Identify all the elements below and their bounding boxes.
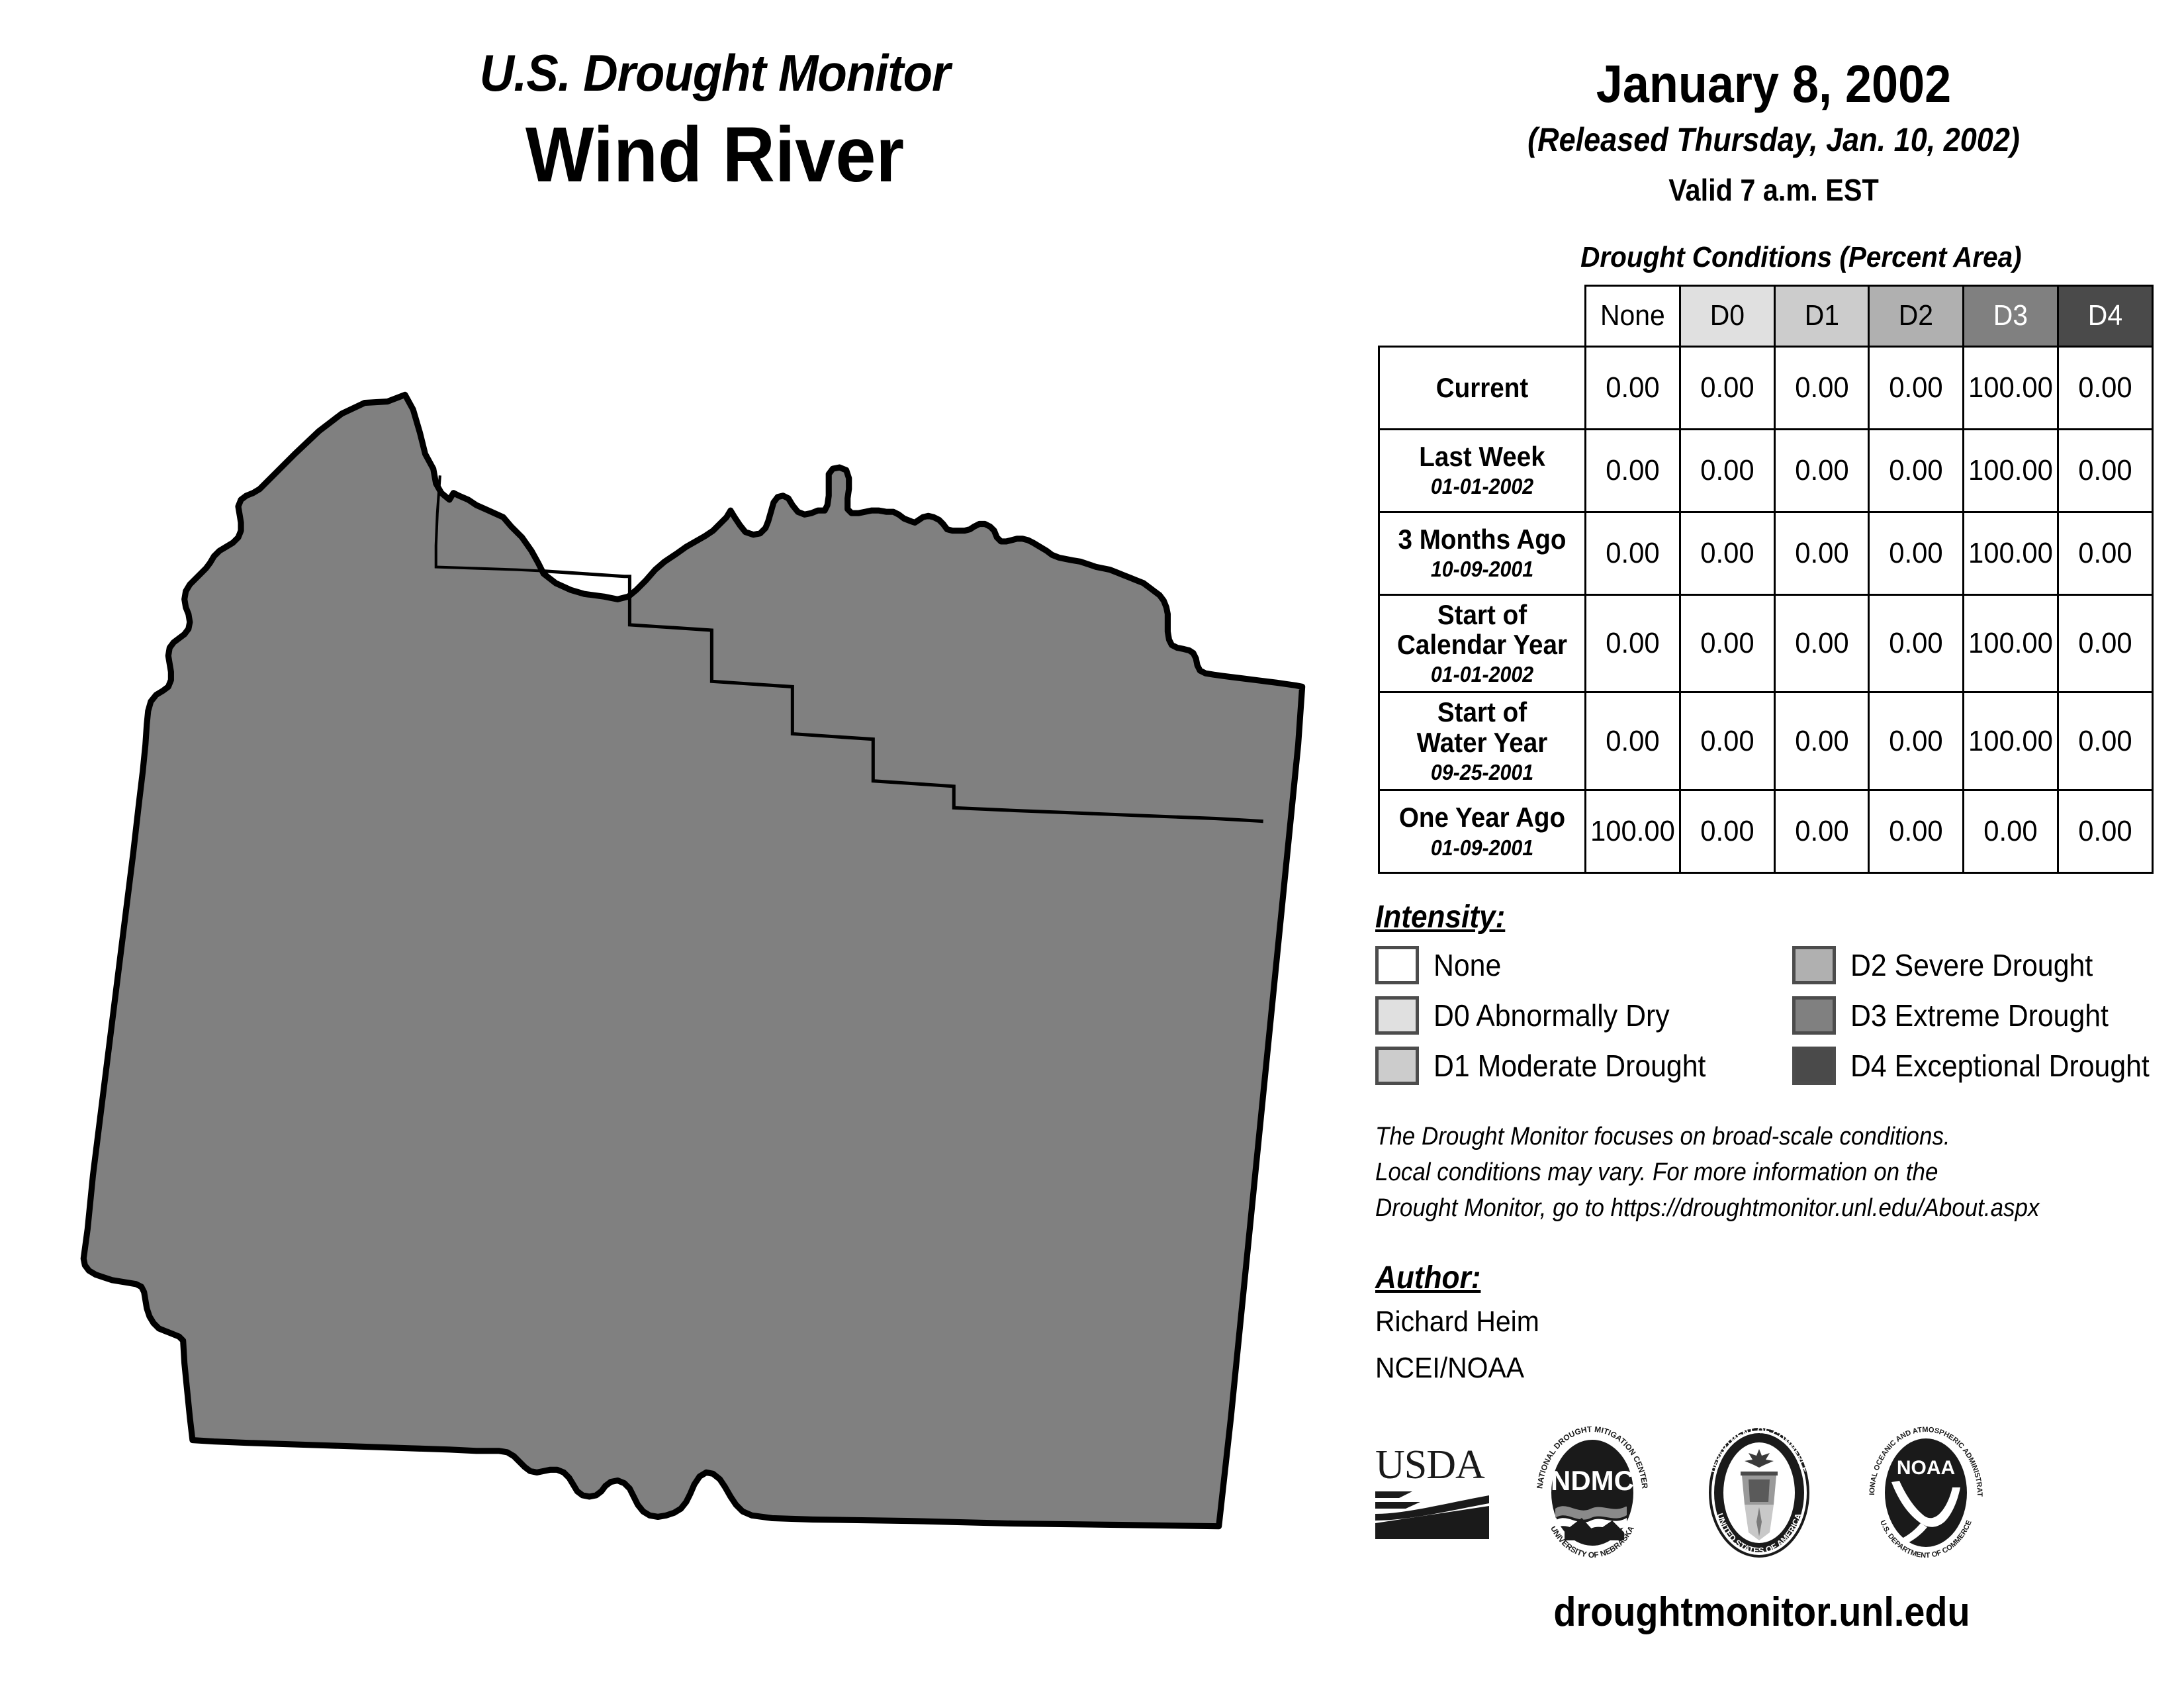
cell-value: 0.00 [1967, 815, 2055, 848]
usda-logo: USDA [1373, 1440, 1492, 1549]
table-cell-none: 0.00 [1586, 346, 1680, 429]
table-cell-d3: 100.00 [1964, 594, 2058, 692]
drought-monitor-page: U.S. Drought Monitor Wind River January … [0, 0, 2184, 1688]
cell-value: 0.00 [2062, 537, 2150, 570]
legend-item: D2 Severe Drought [1792, 946, 2184, 984]
table-cell-d1: 0.00 [1774, 790, 1869, 873]
cell-value: 100.00 [1967, 725, 2055, 758]
row-label-name: 3 Months Ago [1393, 524, 1572, 554]
drought-conditions-table: NoneD0D1D2D3D4 Current0.000.000.000.0010… [1378, 285, 2154, 874]
legend-label: None [1433, 947, 1501, 983]
right-panel: January 8, 2002 (Released Thursday, Jan.… [1363, 0, 2184, 1688]
table-cell-d0: 0.00 [1680, 594, 1774, 692]
row-label-name: Start of [1393, 697, 1572, 727]
cell-value: 0.00 [1588, 454, 1676, 487]
cell-value: 0.00 [1683, 371, 1771, 404]
row-label-name: Start of [1393, 600, 1572, 630]
legend-item: D1 Moderate Drought [1375, 1047, 1792, 1085]
table-cell-d4: 0.00 [2058, 692, 2153, 790]
table-cell-d3: 100.00 [1964, 429, 2058, 512]
table-cell-d4: 0.00 [2058, 429, 2153, 512]
table-cell-none: 0.00 [1586, 429, 1680, 512]
table-body: Current0.000.000.000.00100.000.00Last We… [1379, 346, 2153, 872]
table-cell-d1: 0.00 [1774, 692, 1869, 790]
header-blank-cell [1379, 285, 1586, 346]
cell-value: 0.00 [1683, 815, 1771, 848]
legend-label: D4 Exceptional Drought [1850, 1048, 2150, 1084]
cell-value: 0.00 [1872, 537, 1960, 570]
table-cell-d1: 0.00 [1774, 512, 1869, 594]
row-label-date: 01-09-2001 [1393, 835, 1572, 861]
svg-text:NOAA: NOAA [1897, 1457, 1955, 1479]
cell-value: 0.00 [1778, 537, 1866, 570]
row-label-date: 09-25-2001 [1393, 760, 1572, 785]
table-caption: Drought Conditions (Percent Area) [1396, 241, 2152, 274]
cell-value: 0.00 [1588, 725, 1676, 758]
cell-value: 0.00 [2062, 371, 2150, 404]
table-cell-d2: 0.00 [1869, 692, 1964, 790]
table-cell-d4: 0.00 [2058, 594, 2153, 692]
cell-value: 0.00 [1683, 454, 1771, 487]
valid-time: Valid 7 a.m. EST [1404, 172, 2143, 208]
table-row: 3 Months Ago10-09-20010.000.000.000.0010… [1379, 512, 2153, 594]
column-header-label: D0 [1684, 299, 1770, 332]
legend-label: D2 Severe Drought [1850, 947, 2093, 983]
column-header-d2: D2 [1869, 285, 1964, 346]
table-row: Start ofCalendar Year01-01-20020.000.000… [1379, 594, 2153, 692]
legend-swatch [1375, 946, 1419, 984]
row-label-name: Current [1393, 373, 1572, 402]
legend-swatch [1375, 996, 1419, 1035]
legend-label: D1 Moderate Drought [1433, 1048, 1706, 1084]
cell-value: 100.00 [1967, 537, 2055, 570]
disclaimer-block: The Drought Monitor focuses on broad-sca… [1375, 1119, 2184, 1227]
table-cell-d0: 0.00 [1680, 346, 1774, 429]
row-label: Current [1379, 346, 1586, 429]
cell-value: 0.00 [1778, 454, 1866, 487]
table-cell-none: 0.00 [1586, 594, 1680, 692]
date-block: January 8, 2002 (Released Thursday, Jan.… [1363, 0, 2184, 208]
table-cell-d3: 100.00 [1964, 512, 2058, 594]
column-header-label: D4 [2062, 299, 2148, 332]
doc-logo: DEPARTMENT OF COMMERCE UNITED STATES OF … [1693, 1427, 1825, 1562]
table-header-row: NoneD0D1D2D3D4 [1379, 285, 2153, 346]
table-cell-d4: 0.00 [2058, 790, 2153, 873]
cell-value: 0.00 [1872, 815, 1960, 848]
valid-date: January 8, 2002 [1404, 57, 2143, 111]
intensity-legend: Intensity: NoneD2 Severe DroughtD0 Abnor… [1375, 899, 2184, 1085]
cell-value: 100.00 [1967, 627, 2055, 660]
disclaimer-line-3: Drought Monitor, go to https://droughtmo… [1375, 1191, 2119, 1227]
table-header: NoneD0D1D2D3D4 [1379, 285, 2153, 346]
column-header-label: D3 [1968, 299, 2054, 332]
column-header-label: None [1590, 299, 1676, 332]
table-cell-d3: 100.00 [1964, 346, 2058, 429]
column-header-label: D2 [1873, 299, 1959, 332]
ndmc-logo: NATIONAL DROUGHT MITIGATION CENTER UNIVE… [1526, 1427, 1659, 1562]
table-cell-none: 100.00 [1586, 790, 1680, 873]
row-label: Last Week01-01-2002 [1379, 429, 1586, 512]
table-cell-d4: 0.00 [2058, 512, 2153, 594]
legend-label: D0 Abnormally Dry [1433, 998, 1670, 1033]
cell-value: 0.00 [1872, 454, 1960, 487]
table-cell-d2: 0.00 [1869, 790, 1964, 873]
row-label: Start ofCalendar Year01-01-2002 [1379, 594, 1586, 692]
table-cell-d2: 0.00 [1869, 429, 1964, 512]
cell-value: 0.00 [1683, 725, 1771, 758]
row-label-date: 01-01-2002 [1393, 474, 1572, 499]
product-title: U.S. Drought Monitor [420, 46, 1011, 101]
noaa-logo: NATIONAL OCEANIC AND ATMOSPHERIC ADMINIS… [1860, 1427, 1992, 1562]
disclaimer-line-2: Local conditions may vary. For more info… [1375, 1155, 2119, 1191]
cell-value: 0.00 [1683, 537, 1771, 570]
cell-value: 100.00 [1588, 815, 1676, 848]
table-row: Start ofWater Year09-25-20010.000.000.00… [1379, 692, 2153, 790]
legend-item: None [1375, 946, 1792, 984]
title-block: U.S. Drought Monitor Wind River [397, 46, 1032, 199]
legend-swatch [1792, 946, 1836, 984]
column-header-d1: D1 [1774, 285, 1869, 346]
table-cell-d2: 0.00 [1869, 594, 1964, 692]
release-date: (Released Thursday, Jan. 10, 2002) [1404, 120, 2143, 159]
row-label-name: One Year Ago [1393, 802, 1572, 832]
table-cell-d3: 0.00 [1964, 790, 2058, 873]
legend-item: D3 Extreme Drought [1792, 996, 2184, 1035]
logo-row: USDA NATIONAL DROUGHT MITIGATION C [1373, 1427, 2184, 1562]
svg-text:NDMC: NDMC [1551, 1465, 1634, 1496]
cell-value: 0.00 [1588, 371, 1676, 404]
table-cell-d4: 0.00 [2058, 346, 2153, 429]
row-label-date: 10-09-2001 [1393, 557, 1572, 582]
table-cell-d0: 0.00 [1680, 429, 1774, 512]
author-title: Author: [1375, 1260, 1480, 1296]
cell-value: 0.00 [1588, 627, 1676, 660]
disclaimer-line-1: The Drought Monitor focuses on broad-sca… [1375, 1119, 2119, 1155]
cell-value: 0.00 [1872, 371, 1960, 404]
row-label: Start ofWater Year09-25-2001 [1379, 692, 1586, 790]
row-label-date: 01-01-2002 [1393, 662, 1572, 687]
cell-value: 0.00 [1778, 371, 1866, 404]
cell-value: 0.00 [2062, 454, 2150, 487]
row-label-name: Last Week [1393, 442, 1572, 471]
table-cell-d2: 0.00 [1869, 512, 1964, 594]
table-cell-none: 0.00 [1586, 512, 1680, 594]
table-cell-d1: 0.00 [1774, 429, 1869, 512]
legend-grid: NoneD2 Severe DroughtD0 Abnormally DryD3… [1375, 946, 2184, 1085]
legend-swatch [1792, 1047, 1836, 1085]
cell-value: 0.00 [1683, 627, 1771, 660]
column-header-label: D1 [1779, 299, 1865, 332]
cell-value: 0.00 [1872, 627, 1960, 660]
map-svg [73, 367, 1317, 1552]
table-cell-d0: 0.00 [1680, 790, 1774, 873]
cell-value: 0.00 [2062, 815, 2150, 848]
author-affiliation: NCEI/NOAA [1375, 1348, 2127, 1389]
row-label: 3 Months Ago10-09-2001 [1379, 512, 1586, 594]
row-label-name: Calendar Year [1393, 630, 1572, 659]
table-row: Last Week01-01-20020.000.000.000.00100.0… [1379, 429, 2153, 512]
cell-value: 0.00 [1872, 725, 1960, 758]
author-block: Author: Richard Heim NCEI/NOAA [1375, 1260, 2184, 1389]
column-header-d0: D0 [1680, 285, 1774, 346]
footer-url[interactable]: droughtmonitor.unl.edu [1404, 1589, 2143, 1636]
table-cell-d0: 0.00 [1680, 692, 1774, 790]
table-cell-none: 0.00 [1586, 692, 1680, 790]
cell-value: 0.00 [1778, 725, 1866, 758]
region-title: Wind River [420, 111, 1011, 199]
legend-item: D4 Exceptional Drought [1792, 1047, 2184, 1085]
cell-value: 0.00 [1588, 537, 1676, 570]
cell-value: 0.00 [1778, 815, 1866, 848]
row-label: One Year Ago01-09-2001 [1379, 790, 1586, 873]
row-label-name: Water Year [1393, 727, 1572, 757]
author-name: Richard Heim [1375, 1301, 2127, 1342]
table-cell-d1: 0.00 [1774, 346, 1869, 429]
legend-item: D0 Abnormally Dry [1375, 996, 1792, 1035]
column-header-d3: D3 [1964, 285, 2058, 346]
cell-value: 100.00 [1967, 454, 2055, 487]
table-row: One Year Ago01-09-2001100.000.000.000.00… [1379, 790, 2153, 873]
legend-label: D3 Extreme Drought [1850, 998, 2109, 1033]
table-cell-d0: 0.00 [1680, 512, 1774, 594]
drought-map[interactable] [73, 367, 1317, 1552]
wind-river-boundary-shape [83, 395, 1302, 1526]
column-header-d4: D4 [2058, 285, 2153, 346]
cell-value: 0.00 [1778, 627, 1866, 660]
table-cell-d2: 0.00 [1869, 346, 1964, 429]
cell-value: 0.00 [2062, 627, 2150, 660]
cell-value: 0.00 [2062, 725, 2150, 758]
column-header-none: None [1586, 285, 1680, 346]
table-cell-d3: 100.00 [1964, 692, 2058, 790]
cell-value: 100.00 [1967, 371, 2055, 404]
table-cell-d1: 0.00 [1774, 594, 1869, 692]
legend-swatch [1792, 996, 1836, 1035]
legend-swatch [1375, 1047, 1419, 1085]
table-row: Current0.000.000.000.00100.000.00 [1379, 346, 2153, 429]
svg-text:USDA: USDA [1375, 1442, 1485, 1487]
intensity-title: Intensity: [1375, 899, 1505, 935]
